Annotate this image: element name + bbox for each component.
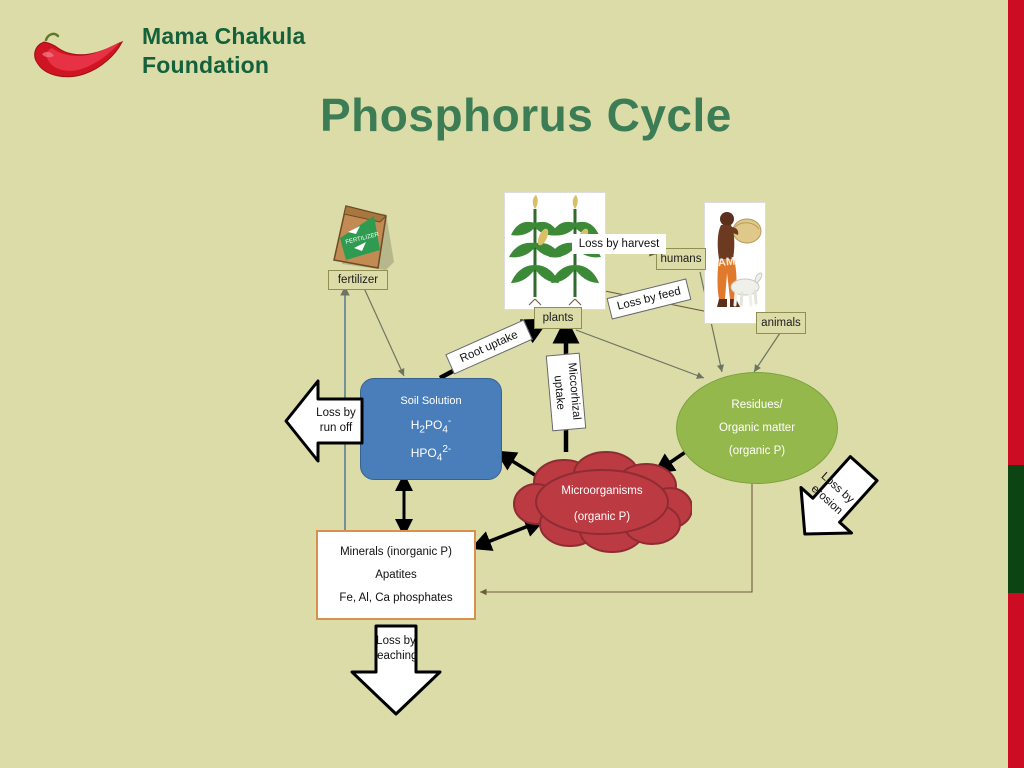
chili-pepper-icon	[22, 28, 132, 88]
minerals-line-2: Apatites	[375, 569, 417, 581]
miccorhizal-line-1: Miccorhizal	[564, 362, 582, 420]
loss-by-run-off-arrow: Loss by run off	[284, 373, 364, 469]
residues-line-1: Residues/	[731, 399, 782, 411]
slide-canvas: Mama Chakula Foundation Phosphorus Cycle	[0, 0, 1024, 768]
person-and-goat-image: SAMPLE	[704, 202, 766, 324]
label-loss-by-harvest: Loss by harvest	[572, 234, 666, 254]
run-off-line-1: Loss by	[312, 406, 360, 421]
fertilizer-bag-image: FERTILIZER	[326, 198, 402, 276]
soil-solution-ion-2: HPO42-	[411, 444, 451, 463]
run-off-line-2: run off	[312, 421, 360, 436]
loss-by-erosion-arrow: Loss by erosion	[786, 452, 884, 552]
page-title: Phosphorus Cycle	[320, 88, 732, 142]
minerals-line-3: Fe, Al, Ca phosphates	[339, 592, 452, 604]
label-miccorhizal-uptake: Miccorhizal uptake	[546, 353, 586, 432]
node-microorganisms[interactable]: Microorganisms (organic P)	[512, 448, 692, 556]
node-fertilizer[interactable]: fertilizer	[328, 270, 388, 290]
microorganisms-line-1: Microorganisms	[561, 485, 642, 497]
brand-logo: Mama Chakula Foundation	[22, 20, 352, 90]
leaching-caption: Loss by leaching	[372, 634, 420, 664]
right-edge-green-bar	[1008, 465, 1024, 593]
minerals-line-1: Minerals (inorganic P)	[340, 546, 452, 558]
node-plants[interactable]: plants	[534, 307, 582, 329]
residues-line-3: (organic P)	[729, 445, 785, 457]
logo-text-block: Mama Chakula Foundation	[142, 22, 305, 80]
soil-solution-ion-1: H2PO4-	[411, 416, 451, 435]
soil-solution-title: Soil Solution	[400, 395, 461, 407]
label-root-uptake: Root uptake	[445, 319, 533, 374]
node-minerals[interactable]: Minerals (inorganic P) Apatites Fe, Al, …	[316, 530, 476, 620]
label-loss-by-feed: Loss by feed	[607, 278, 692, 319]
run-off-caption: Loss by run off	[312, 406, 360, 436]
logo-line-2: Foundation	[142, 51, 305, 80]
loss-by-leaching-arrow: Loss by leaching	[348, 624, 444, 716]
leaching-line-2: leaching	[372, 649, 420, 664]
residues-line-2: Organic matter	[719, 422, 795, 434]
miccorhizal-line-2: uptake	[551, 375, 567, 411]
microorganisms-line-2: (organic P)	[574, 511, 630, 523]
logo-line-1: Mama Chakula	[142, 22, 305, 51]
node-soil-solution[interactable]: Soil Solution H2PO4- HPO42-	[360, 378, 502, 480]
right-edge-red-bar	[1008, 0, 1024, 768]
leaching-line-1: Loss by	[372, 634, 420, 649]
microorganisms-text: Microorganisms (organic P)	[512, 448, 692, 556]
node-animals[interactable]: animals	[756, 312, 806, 334]
